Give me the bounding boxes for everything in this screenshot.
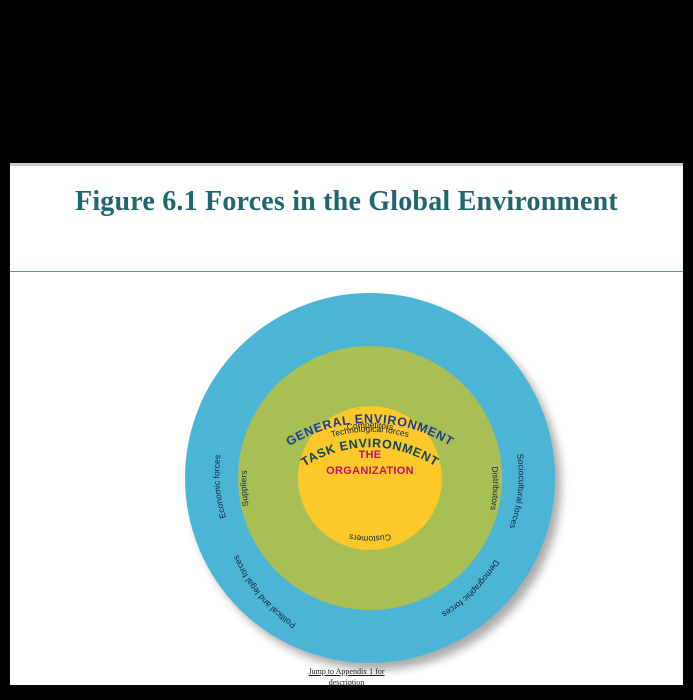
letterbox-top	[0, 0, 693, 163]
organization-label-line2: ORGANIZATION	[298, 464, 442, 480]
appendix-link-line1[interactable]: Jump to Appendix 1 for	[309, 667, 385, 676]
label-political-and-legal-forces: Political and legal forces	[231, 554, 298, 631]
label-sociocultural-forces: Sociocultural forces	[508, 453, 527, 530]
page-title: Figure 6.1 Forces in the Global Environm…	[45, 184, 648, 220]
screenshot-root: Figure 6.1 Forces in the Global Environm…	[0, 0, 693, 700]
label-suppliers: Suppliers	[238, 470, 250, 508]
title-divider	[10, 271, 683, 272]
organization-label-line1: THE	[298, 448, 442, 464]
global-environment-diagram: GENERAL ENVIRONMENT Technological forces…	[185, 293, 555, 663]
label-customers: Customers	[348, 532, 391, 544]
organization-label: THE ORGANIZATION	[298, 448, 442, 480]
presentation-slide: Figure 6.1 Forces in the Global Environm…	[10, 163, 683, 685]
label-demographic-forces: Demographic forces	[440, 558, 501, 619]
label-distributors: Distributors	[488, 466, 501, 512]
letterbox-bottom	[0, 685, 693, 700]
label-economic-forces: Economic forces	[211, 454, 228, 519]
